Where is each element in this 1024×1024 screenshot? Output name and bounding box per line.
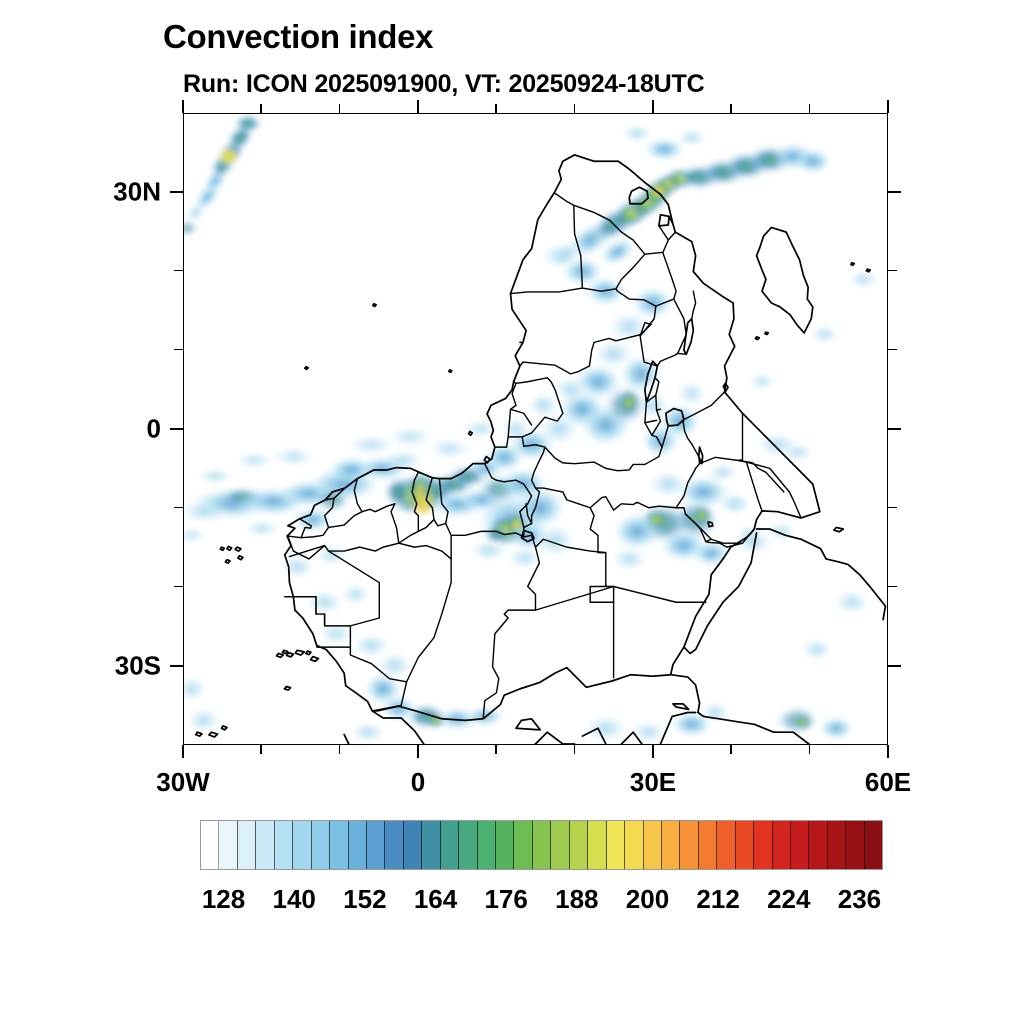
x-minor-tick-top xyxy=(730,104,731,113)
colorbar-cell[interactable] xyxy=(551,821,569,869)
colorbar-cell[interactable] xyxy=(293,821,311,869)
colorbar-cell[interactable] xyxy=(219,821,237,869)
colorbar-cell[interactable] xyxy=(312,821,330,869)
x-major-tick-top xyxy=(887,100,889,113)
x-axis-label-30w: 30W xyxy=(156,767,209,798)
map-canvas xyxy=(184,114,887,744)
x-major-tick xyxy=(887,745,889,758)
colorbar-cell[interactable] xyxy=(791,821,809,869)
y-minor-tick-right xyxy=(888,507,897,508)
x-axis-label-0: 0 xyxy=(411,767,425,798)
colorbar-cell[interactable] xyxy=(773,821,791,869)
colorbar-cell[interactable] xyxy=(422,821,440,869)
figure-subtitle: Run: ICON 2025091900, VT: 20250924-18UTC xyxy=(183,70,704,99)
colorbar-cell[interactable] xyxy=(275,821,293,869)
x-axis-label-60e: 60E xyxy=(865,767,911,798)
convection-field xyxy=(184,114,879,744)
map-plot-area[interactable] xyxy=(183,113,888,745)
colorbar-tick-label: 188 xyxy=(555,884,598,915)
colorbar[interactable] xyxy=(200,820,883,870)
figure-title: Convection index xyxy=(163,18,433,56)
y-minor-tick xyxy=(174,270,183,271)
blob-sw-atlantic-front xyxy=(184,114,262,236)
colorbar-cell[interactable] xyxy=(607,821,625,869)
x-minor-tick xyxy=(574,745,575,754)
colorbar-cell[interactable] xyxy=(514,821,532,869)
colorbar-cell[interactable] xyxy=(644,821,662,869)
y-major-tick xyxy=(170,665,183,667)
colorbar-cell[interactable] xyxy=(828,821,846,869)
x-major-tick-top xyxy=(182,100,184,113)
colorbar-tick-label: 176 xyxy=(484,884,527,915)
x-major-tick-top xyxy=(417,100,419,113)
x-minor-tick xyxy=(339,745,340,754)
x-major-tick xyxy=(417,745,419,758)
colorbar-cell[interactable] xyxy=(459,821,477,869)
y-minor-tick xyxy=(174,507,183,508)
x-major-tick-top xyxy=(652,100,654,113)
colorbar-cell[interactable] xyxy=(809,821,827,869)
x-major-tick xyxy=(652,745,654,758)
x-minor-tick xyxy=(495,745,496,754)
blob-south-africa-front xyxy=(543,124,832,275)
y-axis-label-30n: 30N xyxy=(113,177,161,208)
colorbar-cell[interactable] xyxy=(441,821,459,869)
x-major-tick xyxy=(182,745,184,758)
x-minor-tick xyxy=(809,745,810,754)
y-minor-tick-right xyxy=(888,586,897,587)
y-axis-label-0: 0 xyxy=(147,414,161,445)
y-minor-tick xyxy=(174,349,183,350)
colorbar-cell[interactable] xyxy=(625,821,643,869)
colorbar-cell[interactable] xyxy=(865,821,882,869)
x-minor-tick-top xyxy=(574,104,575,113)
colorbar-cell[interactable] xyxy=(349,821,367,869)
colorbar-tick-label: 200 xyxy=(626,884,669,915)
colorbar-cell[interactable] xyxy=(717,821,735,869)
colorbar-tick-label: 212 xyxy=(696,884,739,915)
x-minor-tick-top xyxy=(809,104,810,113)
x-minor-tick-top xyxy=(260,104,261,113)
x-minor-tick-top xyxy=(495,104,496,113)
y-axis-label-30s: 30S xyxy=(115,651,161,682)
y-minor-tick-right xyxy=(888,349,897,350)
x-axis-label-30e: 30E xyxy=(630,767,676,798)
colorbar-cell[interactable] xyxy=(680,821,698,869)
y-minor-tick-right xyxy=(888,270,897,271)
y-major-tick-right xyxy=(888,191,901,193)
colorbar-cell[interactable] xyxy=(588,821,606,869)
colorbar-tick-label: 164 xyxy=(414,884,457,915)
blob-indian-ocean xyxy=(748,270,879,390)
y-major-tick-right xyxy=(888,428,901,430)
colorbar-cell[interactable] xyxy=(754,821,772,869)
blob-congo-basin xyxy=(484,338,661,471)
colorbar-tick-label: 152 xyxy=(343,884,386,915)
colorbar-cell[interactable] xyxy=(736,821,754,869)
y-major-tick xyxy=(170,428,183,430)
colorbar-cell[interactable] xyxy=(385,821,403,869)
colorbar-cell[interactable] xyxy=(478,821,496,869)
y-major-tick xyxy=(170,191,183,193)
y-major-tick-right xyxy=(888,665,901,667)
figure-canvas: Convection index Run: ICON 2025091900, V… xyxy=(0,0,1024,1024)
colorbar-tick-label: 236 xyxy=(838,884,881,915)
colorbar-cell[interactable] xyxy=(699,821,717,869)
colorbar-tick-label: 224 xyxy=(767,884,810,915)
x-minor-tick xyxy=(260,745,261,754)
colorbar-cell[interactable] xyxy=(256,821,274,869)
blob-atlas-maghreb xyxy=(184,544,503,743)
colorbar-cell[interactable] xyxy=(330,821,348,869)
x-minor-tick xyxy=(730,745,731,754)
colorbar-cell[interactable] xyxy=(367,821,385,869)
colorbar-tick-label: 128 xyxy=(202,884,245,915)
colorbar-cell[interactable] xyxy=(496,821,514,869)
colorbar-cell[interactable] xyxy=(238,821,256,869)
map-clip xyxy=(184,114,887,744)
colorbar-cell[interactable] xyxy=(662,821,680,869)
colorbar-tick-label: 140 xyxy=(273,884,316,915)
colorbar-cell[interactable] xyxy=(846,821,864,869)
colorbar-cell[interactable] xyxy=(201,821,219,869)
x-minor-tick-top xyxy=(339,104,340,113)
colorbar-cell[interactable] xyxy=(533,821,551,869)
colorbar-cell[interactable] xyxy=(570,821,588,869)
y-minor-tick xyxy=(174,586,183,587)
colorbar-cell[interactable] xyxy=(404,821,422,869)
